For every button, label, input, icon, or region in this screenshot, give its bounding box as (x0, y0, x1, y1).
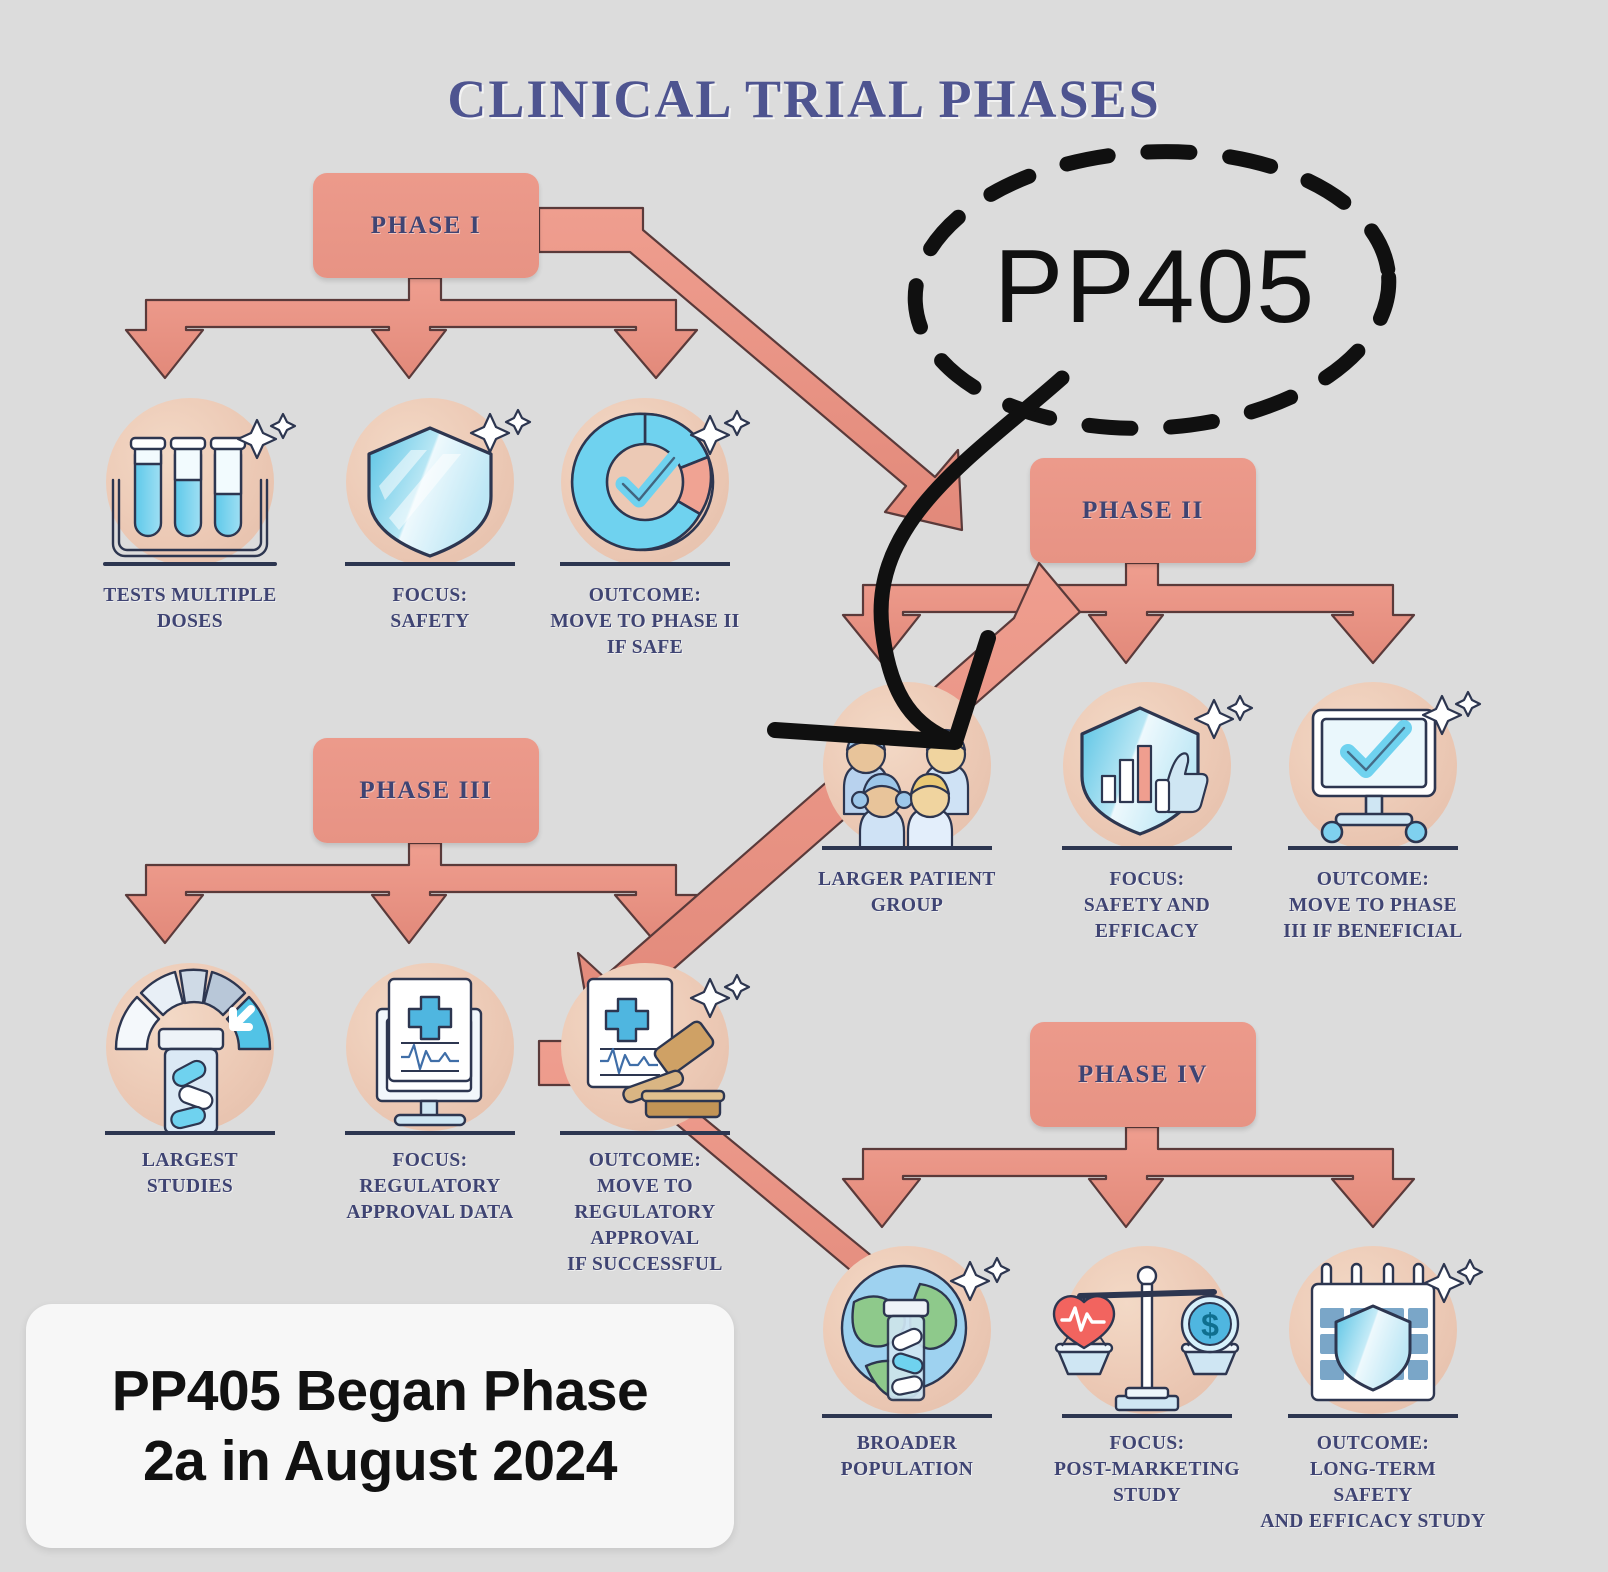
phase-box-label: PHASE III (359, 777, 492, 805)
monitor-checkmark-icon (1258, 676, 1488, 861)
icon-wrap: $ (1032, 1240, 1262, 1425)
phase-box-label: PHASE II (1082, 497, 1204, 525)
item-caption: OUTCOME: MOVE TO PHASE II IF SAFE (530, 583, 760, 661)
shield-icon (315, 392, 545, 577)
checkmark-donut-chart-icon (530, 392, 760, 577)
icon-wrap (1032, 676, 1262, 861)
icon-wrap (792, 676, 1022, 861)
item-caption: LARGEST STUDIES (75, 1148, 305, 1200)
item-outcome-phase1[interactable]: OUTCOME: MOVE TO PHASE II IF SAFE (530, 392, 760, 661)
patient-group-icon (792, 676, 1022, 861)
infographic-canvas: CLINICAL TRIAL PHASES (0, 0, 1608, 1572)
pp405-annotation: PP405 (905, 148, 1405, 433)
item-outcome-phase4[interactable]: OUTCOME: LONG-TERM SAFETY AND EFFICACY S… (1258, 1240, 1488, 1535)
phase-box-phase3[interactable]: PHASE III (313, 738, 539, 843)
item-caption: OUTCOME: LONG-TERM SAFETY AND EFFICACY S… (1258, 1431, 1488, 1535)
balance-scale-heart-dollar-icon: $ (1032, 1240, 1262, 1425)
page-title: CLINICAL TRIAL PHASES (0, 68, 1608, 130)
icon-wrap (75, 392, 305, 577)
item-caption: FOCUS: SAFETY AND EFFICACY (1032, 867, 1262, 945)
icon-wrap (315, 392, 545, 577)
globe-pill-bottle-icon (792, 1240, 1022, 1425)
item-outcome-phase2[interactable]: OUTCOME: MOVE TO PHASE III IF BENEFICIAL (1258, 676, 1488, 945)
caption-text: PP405 Began Phase 2a in August 2024 (112, 1356, 648, 1496)
phase-box-phase4[interactable]: PHASE IV (1030, 1022, 1256, 1127)
item-focus-safety-efficacy[interactable]: FOCUS: SAFETY AND EFFICACY (1032, 676, 1262, 945)
shield-bar-chart-thumbsup-icon (1032, 676, 1262, 861)
phase-box-label: PHASE I (371, 212, 482, 240)
icon-wrap (530, 392, 760, 577)
item-caption: LARGER PATIENT GROUP (792, 867, 1022, 919)
item-caption: OUTCOME: MOVE TO PHASE III IF BENEFICIAL (1258, 867, 1488, 945)
icon-wrap (315, 957, 545, 1142)
icon-wrap (530, 957, 760, 1142)
caption-card: PP405 Began Phase 2a in August 2024 (26, 1304, 734, 1548)
item-larger-patient-group[interactable]: LARGER PATIENT GROUP (792, 676, 1022, 919)
item-broader-population[interactable]: BROADER POPULATION (792, 1240, 1022, 1483)
calendar-shield-icon (1258, 1240, 1488, 1425)
item-caption: FOCUS: POST-MARKETING STUDY (1032, 1431, 1262, 1509)
icon-wrap (1258, 676, 1488, 861)
icon-wrap (75, 957, 305, 1142)
item-tests-multiple-doses[interactable]: TESTS MULTIPLE DOSES (75, 392, 305, 635)
item-focus-safety[interactable]: FOCUS: SAFETY (315, 392, 545, 635)
medical-report-monitor-icon (315, 957, 545, 1142)
caption-line-1: PP405 Began Phase (112, 1356, 648, 1426)
phase-box-phase2[interactable]: PHASE II (1030, 458, 1256, 563)
icon-wrap (1258, 1240, 1488, 1425)
item-caption: TESTS MULTIPLE DOSES (75, 583, 305, 635)
item-outcome-phase3[interactable]: OUTCOME: MOVE TO REGULATORY APPROVAL IF … (530, 957, 760, 1278)
icon-wrap (792, 1240, 1022, 1425)
phase-box-phase1[interactable]: PHASE I (313, 173, 539, 278)
caption-line-2: 2a in August 2024 (112, 1426, 648, 1496)
item-largest-studies[interactable]: LARGEST STUDIES (75, 957, 305, 1200)
medical-report-gavel-icon (530, 957, 760, 1142)
item-caption: OUTCOME: MOVE TO REGULATORY APPROVAL IF … (530, 1148, 760, 1278)
item-focus-post-marketing-study[interactable]: $ FOCUS: POST-MARKETING STUDY (1032, 1240, 1262, 1509)
item-caption: FOCUS: REGULATORY APPROVAL DATA (315, 1148, 545, 1226)
pill-bottle-gauge-icon (75, 957, 305, 1142)
pp405-label: PP405 (905, 228, 1405, 347)
item-focus-regulatory-approval-data[interactable]: FOCUS: REGULATORY APPROVAL DATA (315, 957, 545, 1226)
item-caption: FOCUS: SAFETY (315, 583, 545, 635)
phase-box-label: PHASE IV (1078, 1061, 1208, 1089)
test-tubes-icon (75, 392, 305, 577)
item-caption: BROADER POPULATION (792, 1431, 1022, 1483)
svg-text:$: $ (1201, 1307, 1219, 1343)
